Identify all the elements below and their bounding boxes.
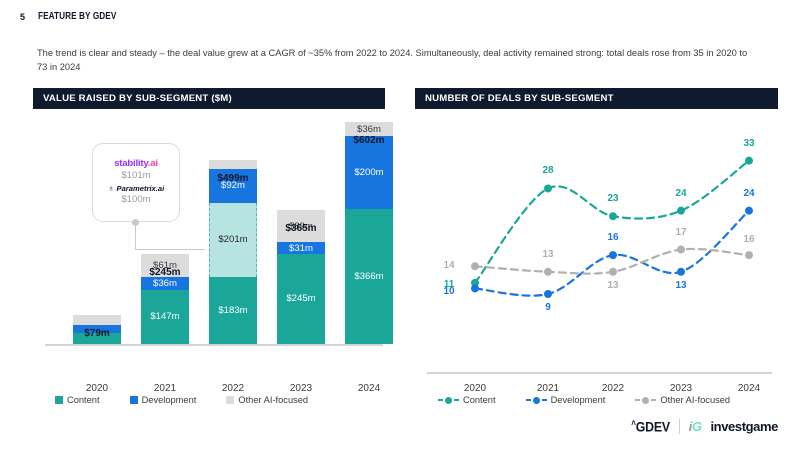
legend-dashed-line-icon bbox=[526, 397, 547, 404]
parametrix-ai-logo: ♁ Parametrix.ai bbox=[108, 184, 164, 193]
line-legend-item-content[interactable]: Content bbox=[438, 395, 496, 405]
bar-chart: $147m$36m$61m$183m$201m$92m$245m$31m$89m… bbox=[33, 112, 385, 402]
bar-legend-item-development[interactable]: Development bbox=[130, 395, 197, 405]
line-x-label-2022: 2022 bbox=[589, 383, 637, 394]
legend-label: Development bbox=[551, 395, 606, 405]
legend-label: Development bbox=[142, 395, 197, 405]
gdev-logo: ˄GDEV bbox=[631, 418, 670, 435]
stability-ai-suffix: .ai bbox=[148, 158, 158, 169]
panel-header-number-of-deals: NUMBER OF DEALS BY SUB-SEGMENT bbox=[415, 88, 778, 109]
bar-x-label-2024: 2024 bbox=[345, 383, 393, 394]
callout-leader-line bbox=[135, 222, 205, 250]
footer-logos: ˄GDEV iG investgame bbox=[626, 418, 778, 435]
line-point-content-2024[interactable] bbox=[745, 157, 753, 165]
gdev-logo-text: GDEV bbox=[635, 419, 669, 435]
line-chart-legend: ContentDevelopmentOther AI-focused bbox=[438, 395, 730, 405]
line-value-label-other-ai-focused-2024: 16 bbox=[732, 234, 766, 245]
line-point-development-2022[interactable] bbox=[609, 251, 617, 259]
line-value-label-development-2023: 13 bbox=[664, 280, 698, 291]
line-series-content bbox=[475, 161, 749, 283]
logo-divider bbox=[679, 419, 680, 434]
bar-legend-item-other-ai-focused[interactable]: Other AI-focused bbox=[226, 395, 308, 405]
line-point-content-2021[interactable] bbox=[544, 184, 552, 192]
legend-dashed-line-icon bbox=[438, 397, 459, 404]
bar-total-2020: $79m bbox=[73, 328, 121, 339]
bar-segment-development-2024[interactable]: $200m bbox=[345, 136, 393, 210]
line-point-content-2023[interactable] bbox=[677, 207, 685, 215]
bar-group-2022[interactable]: $183m$201m$92m bbox=[209, 160, 257, 344]
line-point-other-ai-focused-2021[interactable] bbox=[544, 268, 552, 276]
line-value-label-development-2020: 10 bbox=[432, 286, 466, 297]
line-chart: 1128232433109161324141313171620202021202… bbox=[415, 112, 778, 402]
line-value-label-other-ai-focused-2022: 13 bbox=[596, 280, 630, 291]
line-point-development-2023[interactable] bbox=[677, 268, 685, 276]
line-legend-item-other-ai-focused[interactable]: Other AI-focused bbox=[635, 395, 730, 405]
bar-total-2022: $499m bbox=[209, 173, 257, 184]
ig-mark-g: G bbox=[692, 419, 702, 434]
line-point-other-ai-focused-2024[interactable] bbox=[745, 251, 753, 259]
legend-swatch-icon bbox=[55, 396, 63, 404]
bar-chart-legend: ContentDevelopmentOther AI-focused bbox=[55, 395, 308, 405]
legend-label: Content bbox=[463, 395, 496, 405]
investgame-logo-text: investgame bbox=[710, 419, 778, 434]
slide: 5 FEATURE BY GDEV The trend is clear and… bbox=[0, 0, 800, 450]
bar-segment-development-2023[interactable]: $31m bbox=[277, 242, 325, 253]
bar-segment-content-highlighted--2022[interactable]: $201m bbox=[209, 203, 257, 277]
bar-legend-item-content[interactable]: Content bbox=[55, 395, 100, 405]
legend-swatch-icon bbox=[226, 396, 234, 404]
bar-segment-other-ai-focused-2022[interactable] bbox=[209, 160, 257, 168]
line-point-development-2020[interactable] bbox=[471, 284, 479, 292]
line-point-development-2021[interactable] bbox=[544, 290, 552, 298]
bar-total-2024: $602m bbox=[345, 135, 393, 146]
stability-ai-logo: stability.ai bbox=[114, 158, 158, 169]
line-point-other-ai-focused-2020[interactable] bbox=[471, 262, 479, 270]
panel-header-value-raised: VALUE RAISED BY SUB-SEGMENT ($M) bbox=[33, 88, 385, 109]
line-point-other-ai-focused-2022[interactable] bbox=[609, 268, 617, 276]
legend-label: Other AI-focused bbox=[238, 395, 308, 405]
line-value-label-development-2024: 24 bbox=[732, 188, 766, 199]
line-value-label-content-2021: 28 bbox=[531, 165, 565, 176]
bar-group-2024[interactable]: $366m$200m$36m bbox=[345, 122, 393, 344]
bar-x-label-2020: 2020 bbox=[73, 383, 121, 394]
line-value-label-content-2024: 33 bbox=[732, 138, 766, 149]
bar-total-2023: $365m bbox=[277, 223, 325, 234]
line-legend-item-development[interactable]: Development bbox=[526, 395, 606, 405]
bar-axis-line bbox=[45, 344, 383, 346]
intro-paragraph: The trend is clear and steady – the deal… bbox=[37, 46, 749, 74]
parametrix-ai-name: Parametrix.ai bbox=[117, 184, 165, 193]
legend-dashed-line-icon bbox=[635, 397, 656, 404]
bar-segment-content-2023[interactable]: $245m bbox=[277, 254, 325, 344]
bar-stack: $183m$201m$92m bbox=[209, 160, 257, 344]
line-axis-line bbox=[427, 372, 772, 374]
line-value-label-development-2022: 16 bbox=[596, 232, 630, 243]
callout-box: stability.ai $101m ♁ Parametrix.ai $100m bbox=[92, 143, 180, 222]
bar-stack: $366m$200m$36m bbox=[345, 122, 393, 344]
legend-swatch-icon bbox=[130, 396, 138, 404]
line-point-other-ai-focused-2023[interactable] bbox=[677, 246, 685, 254]
bar-total-2021: $245m bbox=[141, 267, 189, 278]
line-value-label-content-2022: 23 bbox=[596, 193, 630, 204]
bar-segment-content-2021[interactable]: $147m bbox=[141, 290, 189, 344]
line-x-label-2023: 2023 bbox=[657, 383, 705, 394]
bar-segment-other-ai-focused-2024[interactable]: $36m bbox=[345, 122, 393, 135]
bar-segment-other-ai-focused-2020[interactable] bbox=[73, 315, 121, 325]
line-x-label-2020: 2020 bbox=[451, 383, 499, 394]
bar-x-label-2021: 2021 bbox=[141, 383, 189, 394]
stability-ai-amount: $101m bbox=[121, 170, 150, 181]
line-value-label-content-2023: 24 bbox=[664, 188, 698, 199]
line-value-label-other-ai-focused-2023: 17 bbox=[664, 227, 698, 238]
bar-segment-development-2021[interactable]: $36m bbox=[141, 277, 189, 290]
bar-x-label-2023: 2023 bbox=[277, 383, 325, 394]
bar-segment-content-2022[interactable]: $183m bbox=[209, 277, 257, 344]
line-point-development-2024[interactable] bbox=[745, 207, 753, 215]
line-x-label-2024: 2024 bbox=[725, 383, 773, 394]
callout-anchor-dot bbox=[132, 219, 139, 226]
parametrix-mark-icon: ♁ bbox=[108, 184, 115, 193]
line-point-content-2022[interactable] bbox=[609, 212, 617, 220]
feature-tag: FEATURE BY GDEV bbox=[38, 11, 116, 22]
stability-ai-name: stability bbox=[114, 158, 148, 169]
bar-segment-content-2024[interactable]: $366m bbox=[345, 209, 393, 344]
line-value-label-other-ai-focused-2020: 14 bbox=[432, 260, 466, 271]
ig-mark-logo: iG bbox=[689, 419, 702, 434]
parametrix-ai-amount: $100m bbox=[121, 194, 150, 205]
line-value-label-development-2021: 9 bbox=[531, 302, 565, 313]
bar-x-label-2022: 2022 bbox=[209, 383, 257, 394]
page-number: 5 bbox=[20, 12, 25, 22]
line-x-label-2021: 2021 bbox=[524, 383, 572, 394]
line-value-label-other-ai-focused-2021: 13 bbox=[531, 249, 565, 260]
legend-label: Content bbox=[67, 395, 100, 405]
legend-label: Other AI-focused bbox=[660, 395, 730, 405]
